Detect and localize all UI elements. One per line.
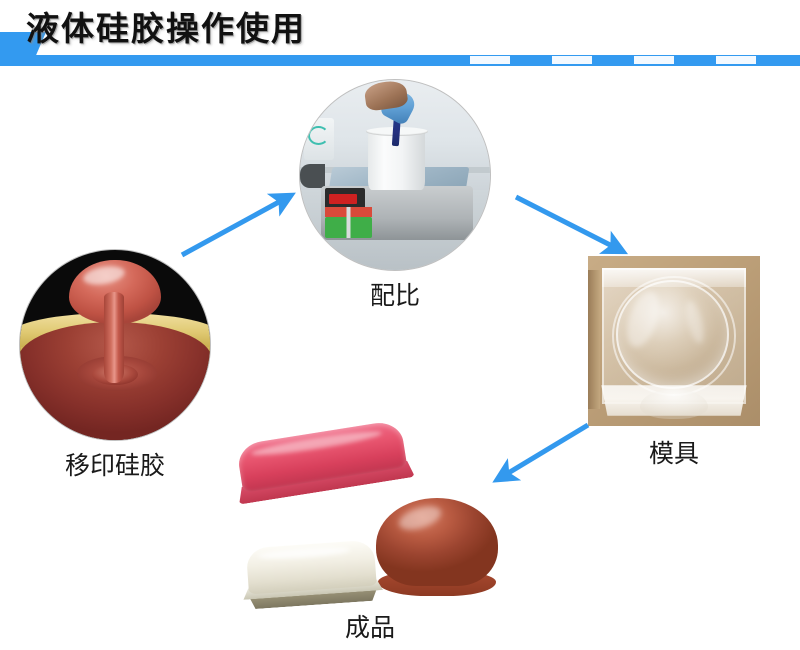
infographic-canvas: 液体硅胶操作使用 移印硅胶 [0,0,800,650]
arrow-step2-to-step3 [516,197,620,250]
flow-arrows [0,0,800,650]
arrow-step1-to-step2 [182,197,288,255]
arrow-step3-to-step4 [500,425,588,478]
